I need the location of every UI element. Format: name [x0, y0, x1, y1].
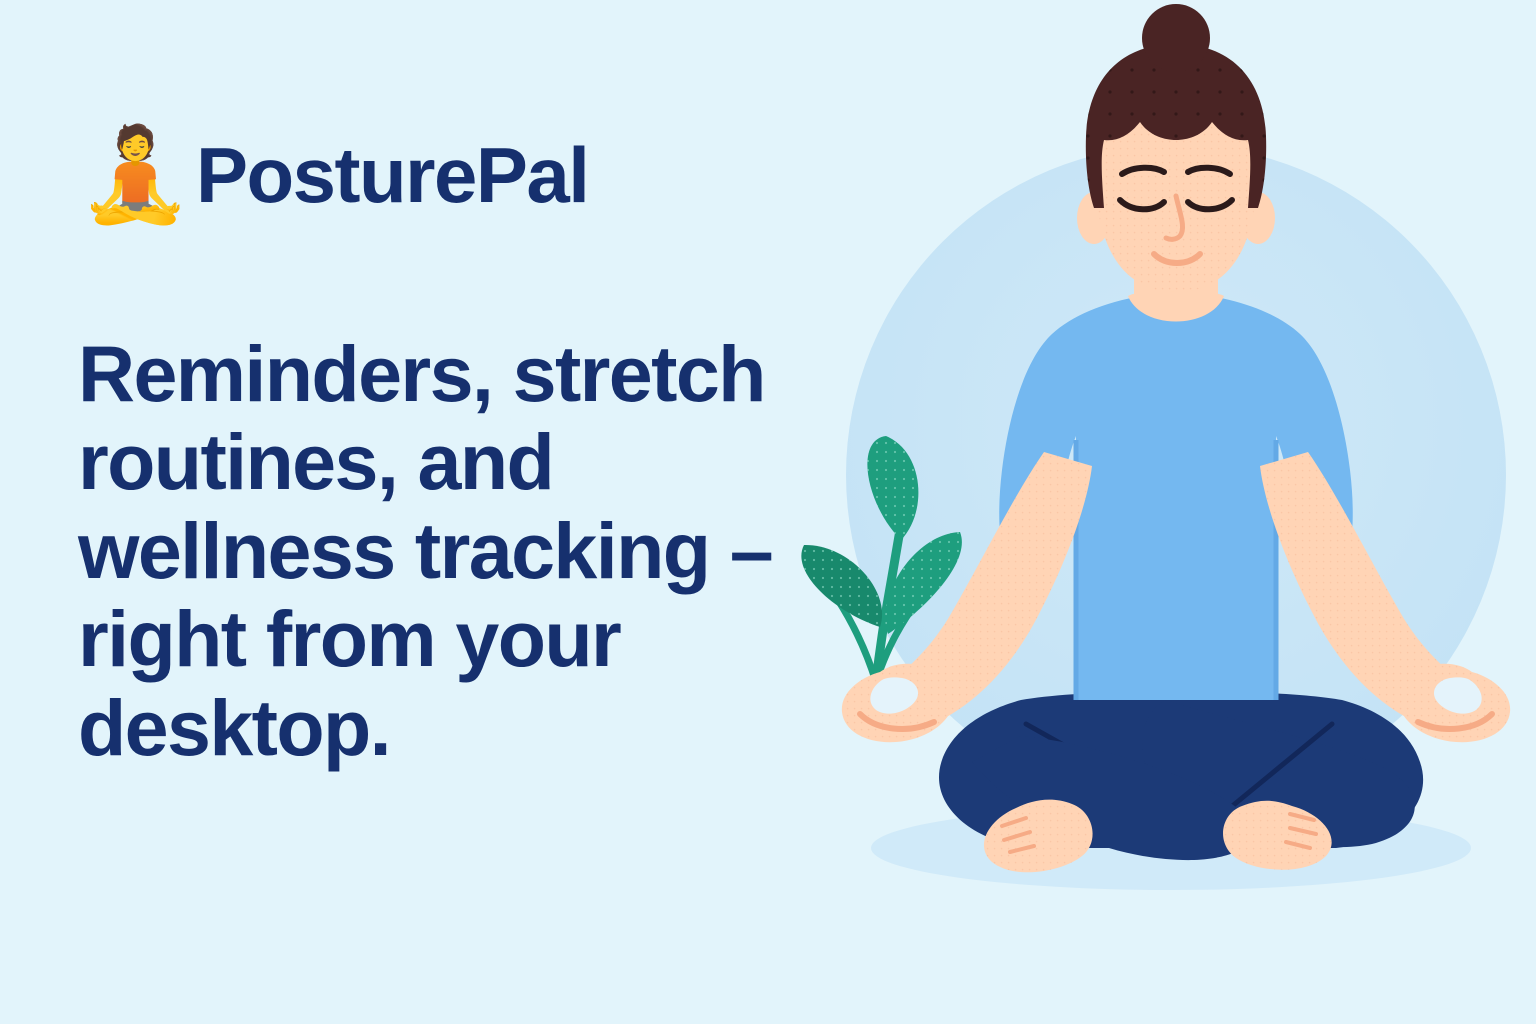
- app-title: PosturePal: [196, 136, 588, 214]
- hero-banner: 🧘 PosturePal Reminders, stretch routines…: [0, 0, 1536, 1024]
- brand-lockup: 🧘 PosturePal: [78, 110, 868, 240]
- hero-tagline: Reminders, stretch routines, and wellnes…: [78, 330, 838, 772]
- hero-content: 🧘 PosturePal Reminders, stretch routines…: [78, 110, 868, 851]
- meditation-illustration: [776, 0, 1536, 1024]
- person-in-lotus-position-icon: 🧘: [78, 129, 178, 221]
